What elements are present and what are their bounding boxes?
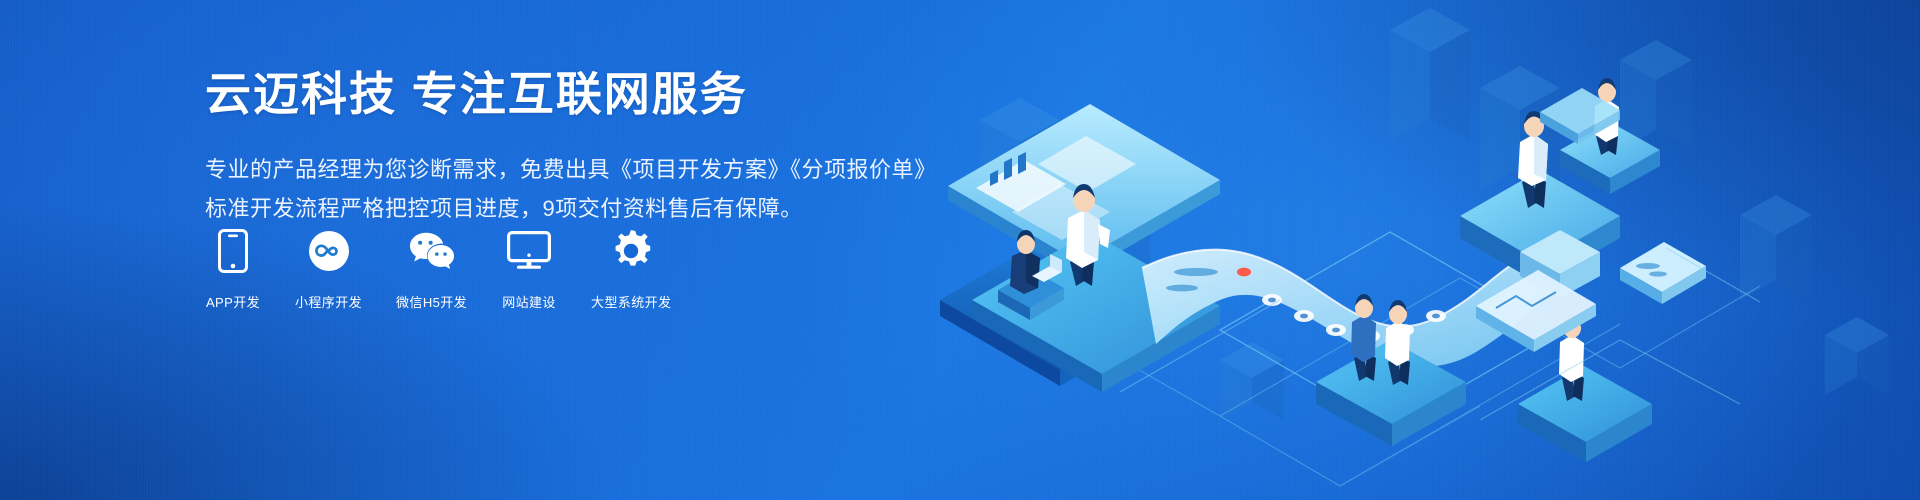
service-item-website[interactable]: 网站建设	[501, 228, 557, 311]
wechat-miniprogram-icon	[306, 228, 352, 274]
wechat-icon	[409, 228, 455, 274]
service-label: 小程序开发	[295, 292, 362, 311]
gear-icon	[608, 228, 654, 274]
service-label: 微信H5开发	[396, 292, 467, 311]
hero-subtitle: 专业的产品经理为您诊断需求，免费出具《项目开发方案》《分项报价单》 标准开发流程…	[205, 150, 1105, 228]
service-label: 大型系统开发	[591, 292, 671, 311]
page-title: 云迈科技 专注互联网服务	[205, 66, 1105, 124]
mobile-phone-icon	[210, 228, 256, 274]
subtitle-line-2: 标准开发流程严格把控项目进度，9项交付资料售后有保障。	[205, 189, 1105, 228]
service-item-miniprogram[interactable]: 小程序开发	[295, 228, 362, 311]
service-item-large-system[interactable]: 大型系统开发	[591, 228, 671, 311]
monitor-icon	[506, 228, 552, 274]
service-label: 网站建设	[502, 292, 556, 311]
service-item-wechat-h5[interactable]: 微信H5开发	[396, 228, 467, 311]
hero-text-block: 云迈科技 专注互联网服务 专业的产品经理为您诊断需求，免费出具《项目开发方案》《…	[205, 66, 1105, 228]
service-label: APP开发	[206, 292, 260, 311]
hero-banner: 云迈科技 专注互联网服务 专业的产品经理为您诊断需求，免费出具《项目开发方案》《…	[0, 0, 1920, 500]
service-item-app[interactable]: APP开发	[205, 228, 261, 311]
subtitle-line-1: 专业的产品经理为您诊断需求，免费出具《项目开发方案》《分项报价单》	[205, 150, 1105, 189]
service-list: APP开发 小程序开发	[205, 228, 671, 311]
